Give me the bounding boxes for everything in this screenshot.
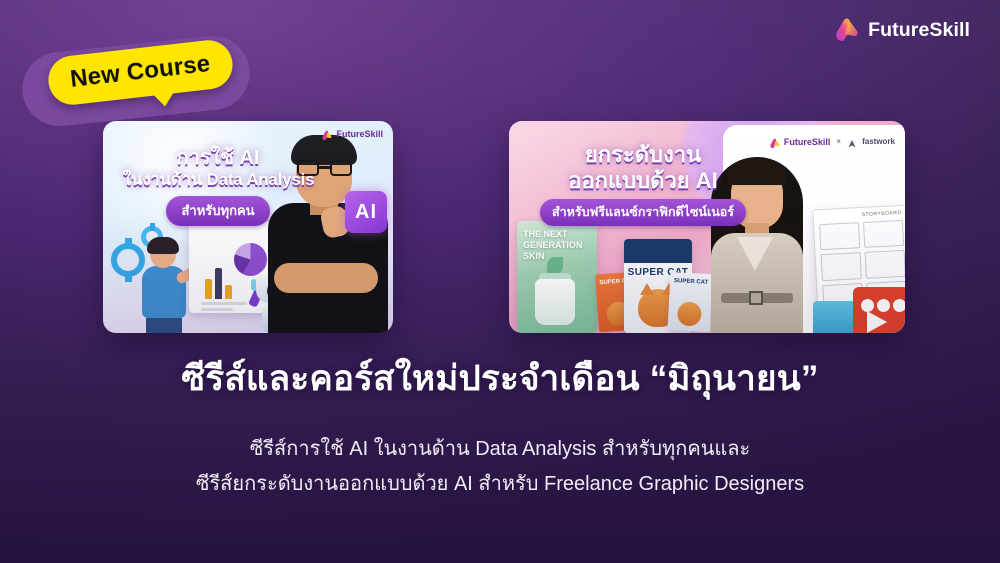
lens-shape: [330, 160, 352, 176]
arm-shape: [274, 263, 378, 293]
card-2-pill: สำหรับฟรีแลนซ์กราฟิกดีไซน์เนอร์: [540, 199, 746, 226]
text-line-shape: [201, 308, 233, 311]
hair-shape: [147, 237, 179, 254]
course-card-ai-design-freelance[interactable]: THE NEXT GENERATION SKIN SUPER CAT SUPER…: [509, 121, 905, 333]
subtitle-block: ซีรีส์การใช้ AI ในงานด้าน Data Analysis …: [0, 432, 1000, 502]
fastwork-logo-icon: [847, 136, 858, 147]
storyboard-cell: [821, 252, 862, 280]
play-triangle-icon: [867, 311, 887, 333]
card-1-title-line1: การใช้ AI: [123, 147, 313, 169]
card-2-brand-name: FutureSkill: [784, 137, 831, 147]
storyboard-label: STORYBOARD: [862, 210, 902, 218]
collar-shape: [737, 237, 773, 271]
red-tile-shape: [853, 287, 905, 333]
bar-shape: [215, 268, 222, 299]
storyboard-cell: [865, 250, 905, 278]
futureskill-arrow-logo-icon: [769, 136, 780, 147]
bar-shape: [205, 279, 212, 299]
partner-name: fastwork: [862, 137, 895, 146]
ear-shape: [640, 283, 654, 295]
card-2-title-line2: ออกแบบด้วย AI: [525, 169, 761, 194]
card-1-pill: สำหรับทุกคน: [166, 196, 269, 226]
ai-chip-icon: AI: [345, 191, 387, 233]
brand-logo: FutureSkill: [833, 17, 970, 43]
dot-icon: [893, 299, 905, 312]
ai-chip-label: AI: [355, 201, 377, 224]
subtitle-line-1: ซีรีส์การใช้ AI ในงานด้าน Data Analysis …: [0, 432, 1000, 467]
buckle-icon: [749, 291, 763, 305]
card-2-heading: ยกระดับงาน ออกแบบด้วย AI สำหรับฟรีแลนซ์ก…: [525, 143, 761, 226]
blue-tile-shape: [813, 301, 857, 333]
promo-banner: FutureSkill New Course: [0, 0, 1000, 563]
card-1-title-line2: ในงานด้าน Data Analysis: [123, 171, 313, 189]
subtitle-line-2: ซีรีส์ยกระดับงานออกแบบด้วย AI สำหรับ Fre…: [0, 467, 1000, 502]
futureskill-arrow-logo-icon: [321, 128, 332, 139]
storyboard-cell: [863, 220, 904, 248]
card-2-brand-logos: FutureSkill × fastwork: [769, 136, 895, 147]
card-1-brand-name: FutureSkill: [336, 129, 383, 139]
badge-label: New Course: [69, 52, 212, 92]
bar-shape: [225, 285, 232, 299]
pack-header-shape: [624, 239, 692, 263]
text-line-shape: [201, 302, 247, 305]
headline-title: ซีรีส์และคอร์สใหม่ประจำเดือน “มิถุนายน”: [0, 357, 1000, 401]
futureskill-arrow-logo-icon: [833, 17, 859, 43]
skincare-poster-illustration: THE NEXT GENERATION SKIN: [517, 221, 597, 333]
brand-name: FutureSkill: [868, 19, 970, 42]
jar-shape: [535, 279, 575, 325]
card-2-title-line1: ยกระดับงาน: [525, 143, 761, 168]
card-1-brand-logo: FutureSkill: [321, 128, 383, 139]
storyboard-cell: [819, 222, 860, 250]
card-1-heading: การใช้ AI ในงานด้าน Data Analysis สำหรับ…: [123, 147, 313, 226]
course-card-ai-data-analysis[interactable]: AI การใช้ AI ในงานด้าน Data Analysis: [103, 121, 393, 333]
main-headline: ซีรีส์และคอร์สใหม่ประจำเดือน “มิถุนายน”: [0, 357, 1000, 401]
bridge-shape: [319, 166, 330, 169]
partner-separator: ×: [836, 137, 841, 146]
badge-tail-icon: [152, 91, 175, 107]
